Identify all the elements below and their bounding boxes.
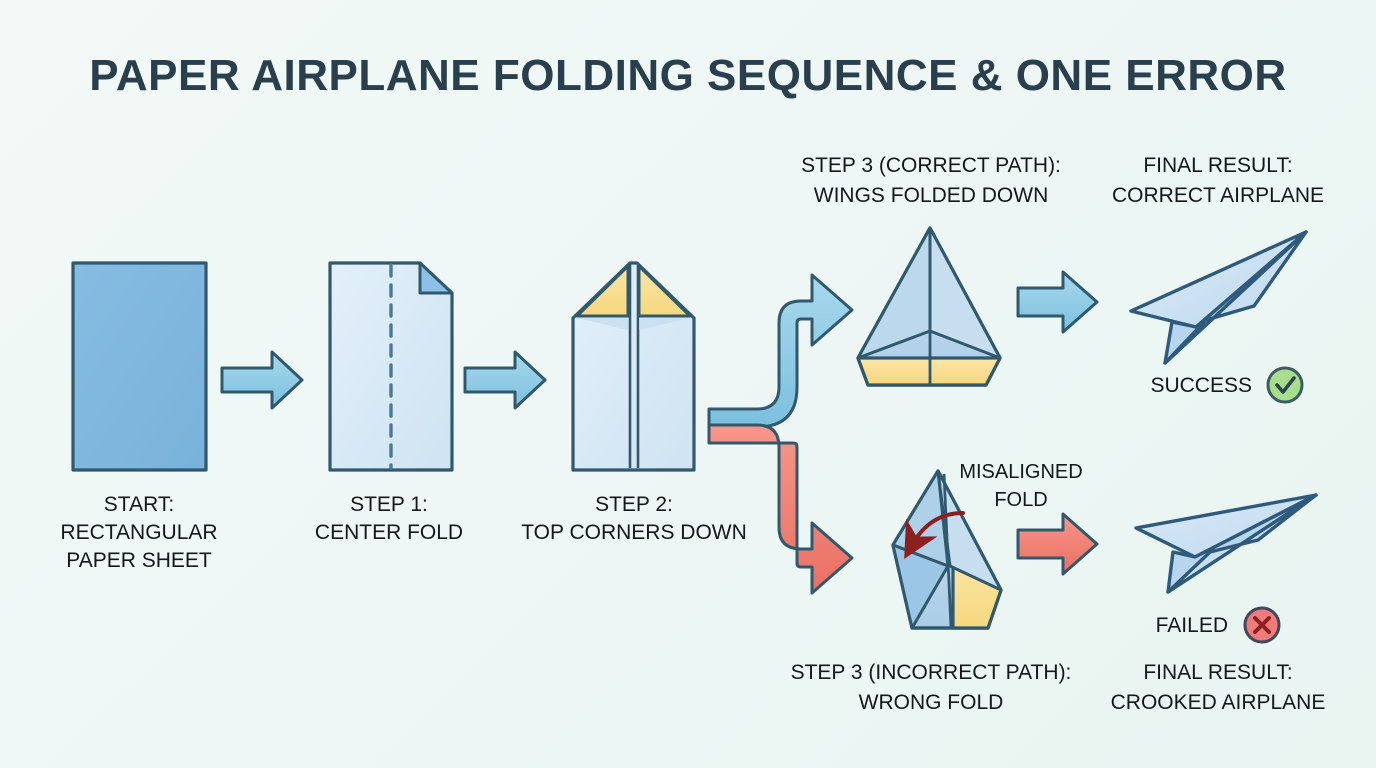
label-line: FINAL RESULT: xyxy=(1143,661,1292,684)
label-line: STEP 3 (INCORRECT PATH): xyxy=(791,661,1072,684)
label-step2: STEP 2: TOP CORNERS DOWN xyxy=(521,493,747,544)
right-arrow-icon xyxy=(1018,514,1097,574)
label-start: START: RECTANGULAR PAPER SHEET xyxy=(60,493,217,572)
shape-wrong-fold xyxy=(893,471,1001,628)
arrow-to-correct-result xyxy=(1018,272,1097,332)
label-line: RECTANGULAR xyxy=(60,521,217,544)
annotation-line: FOLD xyxy=(994,489,1047,511)
label-final-correct: FINAL RESULT: CORRECT AIRPLANE xyxy=(1112,154,1324,207)
shape-top-corners-folded-sheet xyxy=(573,263,694,470)
label-step3-correct: STEP 3 (CORRECT PATH): WINGS FOLDED DOWN xyxy=(801,154,1061,207)
right-arrow-icon xyxy=(1018,272,1097,332)
branch-connector xyxy=(709,275,852,593)
label-line: PAPER SHEET xyxy=(66,549,212,572)
shape-rectangular-paper-sheet xyxy=(73,263,206,470)
shape-center-folded-sheet xyxy=(330,263,452,470)
folded-corner-left xyxy=(577,266,628,316)
label-line: STEP 3 (CORRECT PATH): xyxy=(801,154,1061,177)
label-step3-incorrect: STEP 3 (INCORRECT PATH): WRONG FOLD xyxy=(791,661,1072,714)
status-badge-label: FAILED xyxy=(1156,614,1228,637)
arrow-to-incorrect-result xyxy=(1018,514,1097,574)
status-badge-success: SUCCESS xyxy=(1150,368,1302,402)
sheet-body xyxy=(573,263,694,470)
label-line: STEP 1: xyxy=(350,493,428,516)
folding-sequence-diagram: PAPER AIRPLANE FOLDING SEQUENCE & ONE ER… xyxy=(0,0,1376,768)
label-line: CORRECT AIRPLANE xyxy=(1112,184,1324,207)
annotation-line: MISALIGNED xyxy=(959,461,1082,483)
label-line: WINGS FOLDED DOWN xyxy=(814,184,1049,207)
diagram-canvas: PAPER AIRPLANE FOLDING SEQUENCE & ONE ER… xyxy=(0,0,1376,768)
folded-corner-right xyxy=(639,266,690,316)
label-line: CROOKED AIRPLANE xyxy=(1111,691,1326,714)
folded-corner-flap xyxy=(420,263,452,293)
shape-crooked-airplane xyxy=(1136,495,1316,592)
branch-arrow-incorrect xyxy=(709,425,852,593)
label-step1: STEP 1: CENTER FOLD xyxy=(315,493,463,544)
label-line: CENTER FOLD xyxy=(315,521,463,544)
label-line: STEP 2: xyxy=(595,493,673,516)
right-arrow-icon xyxy=(222,352,302,408)
label-line: START: xyxy=(104,493,174,516)
status-badge-failed: FAILED xyxy=(1156,608,1279,642)
label-line: TOP CORNERS DOWN xyxy=(521,521,747,544)
shape-correct-airplane xyxy=(1131,232,1306,363)
arrow-step1-to-step2 xyxy=(465,352,545,408)
right-arrow-icon xyxy=(465,352,545,408)
paper-sheet-rect xyxy=(73,263,206,470)
status-badge-label: SUCCESS xyxy=(1150,374,1252,397)
label-line: WRONG FOLD xyxy=(859,691,1004,714)
check-circle-icon xyxy=(1268,368,1302,402)
arrow-start-to-step1 xyxy=(222,352,302,408)
label-final-incorrect: FINAL RESULT: CROOKED AIRPLANE xyxy=(1111,661,1326,714)
page-title: PAPER AIRPLANE FOLDING SEQUENCE & ONE ER… xyxy=(89,51,1286,100)
label-line: FINAL RESULT: xyxy=(1143,154,1292,177)
branch-arrow-correct xyxy=(709,275,852,427)
shape-wings-folded-down xyxy=(858,228,1000,385)
